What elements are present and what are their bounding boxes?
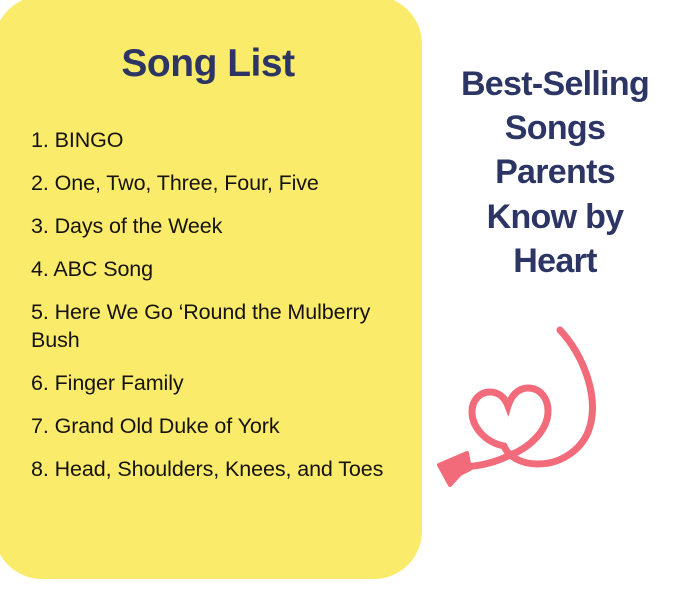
list-item: 1. BINGO: [31, 127, 391, 155]
list-item: 8. Head, Shoulders, Knees, and Toes: [31, 456, 391, 484]
list-item: 5. Here We Go ‘Round the Mulberry Bush: [31, 299, 391, 355]
song-list-card: Song List 1. BINGO 2. One, Two, Three, F…: [0, 0, 422, 579]
song-list: 1. BINGO 2. One, Two, Three, Four, Five …: [31, 127, 391, 498]
poster-canvas: Song List 1. BINGO 2. One, Two, Three, F…: [0, 0, 679, 591]
list-item: 7. Grand Old Duke of York: [31, 413, 391, 441]
promo-heading-line: Songs: [431, 106, 679, 150]
promo-heading-line: Heart: [431, 239, 679, 283]
promo-panel: Best-Selling Songs Parents Know by Heart: [428, 0, 679, 591]
promo-heading-line: Know by: [431, 195, 679, 239]
list-item: 3. Days of the Week: [31, 213, 391, 241]
page-title: Song List: [0, 44, 416, 83]
promo-heading-line: Parents: [431, 150, 679, 194]
promo-heading: Best-Selling Songs Parents Know by Heart: [431, 62, 679, 283]
list-item: 4. ABC Song: [31, 256, 391, 284]
heart-arrow-icon: [434, 322, 624, 497]
promo-heading-line: Best-Selling: [431, 62, 679, 106]
list-item: 2. One, Two, Three, Four, Five: [31, 170, 391, 198]
list-item: 6. Finger Family: [31, 370, 391, 398]
